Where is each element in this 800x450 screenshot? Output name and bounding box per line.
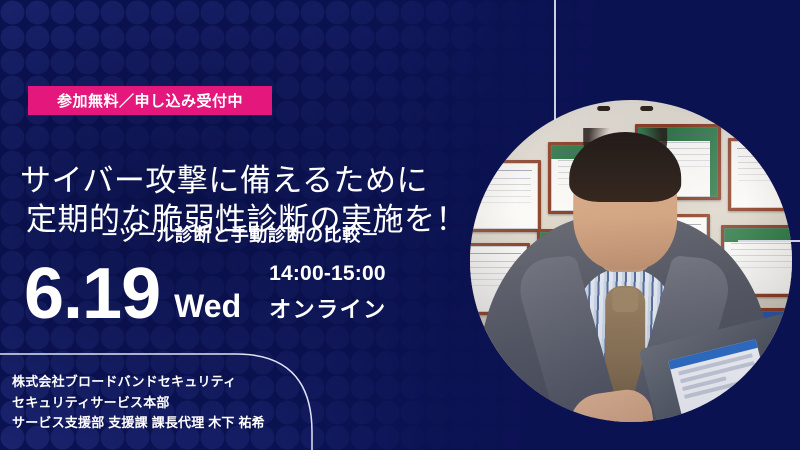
title-line-1: サイバー攻撃に備えるために xyxy=(20,161,480,200)
portrait-image xyxy=(470,100,792,422)
decorative-vertical-line xyxy=(554,0,556,120)
registration-badge-label: 参加無料／申し込み受付中 xyxy=(57,90,243,111)
speaker-title-name: サービス支援部 支援課 課長代理 木下 祐希 xyxy=(12,413,312,434)
event-venue: オンライン xyxy=(269,292,387,324)
portrait-color-tone xyxy=(470,100,792,422)
speaker-company: 株式会社ブロードバンドセキュリティ xyxy=(12,372,312,393)
speaker-division: セキュリティサービス本部 xyxy=(12,393,312,414)
schedule-block: 6.19 Wed 14:00-15:00 オンライン xyxy=(24,262,387,326)
webinar-banner: 参加無料／申し込み受付中 サイバー攻撃に備えるために 定期的な脆弱性診断の実施を… xyxy=(0,0,800,450)
registration-badge: 参加無料／申し込み受付中 xyxy=(28,86,272,115)
decorative-horizontal-line-right xyxy=(738,240,800,242)
event-day-of-week: Wed xyxy=(174,290,241,326)
event-date: 6.19 xyxy=(24,264,160,326)
page-subtitle: －ツール診断と手動診断の比較－ xyxy=(20,221,460,247)
speaker-portrait xyxy=(470,100,792,422)
event-time: 14:00-15:00 xyxy=(269,262,387,286)
time-venue-block: 14:00-15:00 オンライン xyxy=(255,262,387,326)
speaker-info: 株式会社ブロードバンドセキュリティ セキュリティサービス本部 サービス支援部 支… xyxy=(12,372,312,434)
